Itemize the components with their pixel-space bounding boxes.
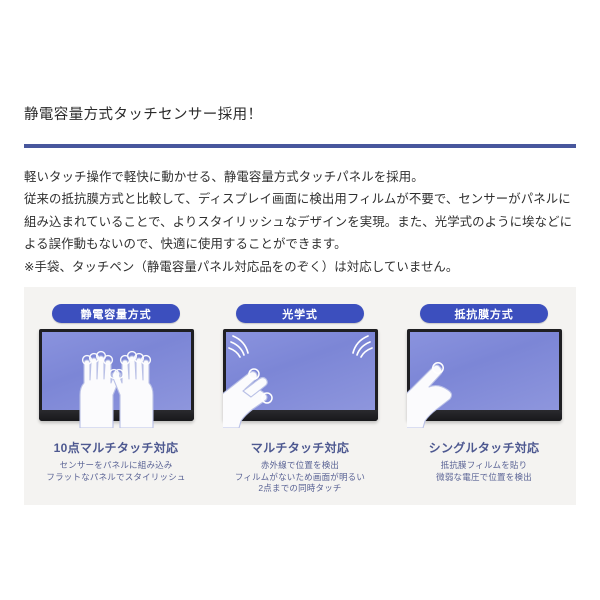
caption-sub-capacitive: センサーをパネルに組み込み フラットなパネルでスタイリッシュ	[46, 460, 185, 483]
comparison-band: 静電容量方式	[24, 287, 576, 505]
badge-resistive: 抵抗膜方式	[420, 304, 548, 323]
caption-head-optical: マルチタッチ対応	[251, 439, 349, 456]
caption-line: 2点までの同時タッチ	[235, 483, 365, 495]
caption-line: 微弱な電圧で位置を検出	[436, 472, 532, 484]
monitor-body	[407, 329, 562, 421]
body-paragraph-3: ※手袋、タッチペン（静電容量パネル対応品をのぞく）は対応していません。	[24, 256, 580, 278]
page-title: 静電容量方式タッチセンサー採用！	[24, 103, 262, 124]
monitor-screen	[226, 332, 375, 410]
caption-head-resistive: シングルタッチ対応	[429, 439, 540, 456]
badge-capacitive: 静電容量方式	[52, 304, 180, 323]
body-paragraph-1: 軽いタッチ操作で軽快に動かせる、静電容量方式タッチパネルを採用。	[24, 166, 580, 188]
monitor-optical	[223, 329, 378, 428]
title-underline-rule	[24, 144, 576, 148]
caption-line: 赤外線で位置を検出	[235, 460, 365, 472]
comparison-panel-resistive: 抵抗膜方式 シン	[392, 287, 576, 505]
body-paragraph-2: 従来の抵抗膜方式と比較して、ディスプレイ画面に検出用フィルムが不要で、センサーが…	[24, 188, 580, 255]
caption-sub-resistive: 抵抗膜フィルムを貼り 微弱な電圧で位置を検出	[436, 460, 532, 483]
caption-line: 抵抗膜フィルムを貼り	[436, 460, 532, 472]
caption-line: センサーをパネルに組み込み	[46, 460, 185, 472]
monitor-capacitive	[39, 329, 194, 428]
monitor-chin	[223, 410, 378, 421]
badge-optical: 光学式	[236, 304, 364, 323]
monitor-screen	[410, 332, 559, 410]
monitor-body	[39, 329, 194, 421]
caption-sub-optical: 赤外線で位置を検出 フィルムがないため画面が明るい 2点までの同時タッチ	[235, 460, 365, 495]
monitor-resistive	[407, 329, 562, 428]
comparison-panel-optical: 光学式	[208, 287, 392, 505]
caption-head-capacitive: 10点マルチタッチ対応	[54, 439, 179, 456]
monitor-screen	[42, 332, 191, 410]
monitor-body	[223, 329, 378, 421]
body-copy: 軽いタッチ操作で軽快に動かせる、静電容量方式タッチパネルを採用。 従来の抵抗膜方…	[24, 166, 580, 278]
monitor-chin	[39, 410, 194, 421]
comparison-panel-capacitive: 静電容量方式	[24, 287, 208, 505]
monitor-chin	[407, 410, 562, 421]
comparison-row: 静電容量方式	[24, 287, 576, 505]
page-root: 静電容量方式タッチセンサー採用！ 軽いタッチ操作で軽快に動かせる、静電容量方式タ…	[0, 0, 600, 600]
caption-line: フィルムがないため画面が明るい	[235, 472, 365, 484]
caption-line: フラットなパネルでスタイリッシュ	[46, 472, 185, 484]
